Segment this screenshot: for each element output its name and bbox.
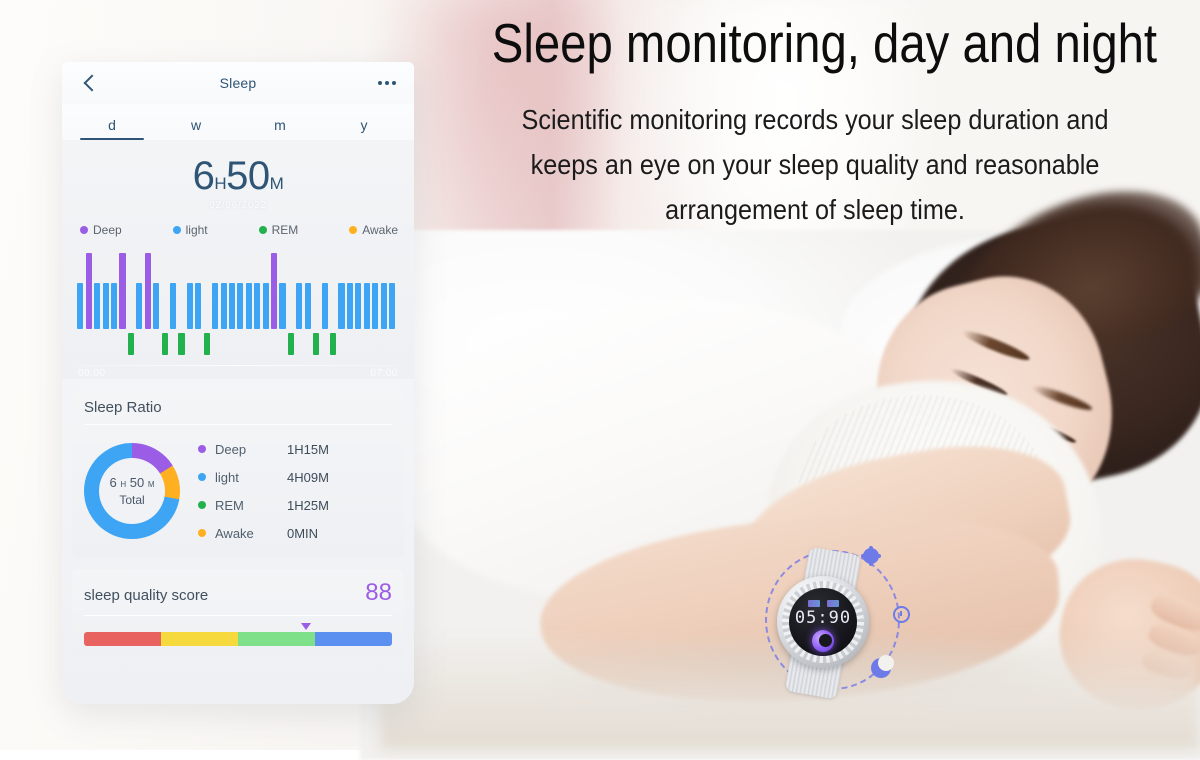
chart-bar-light	[246, 283, 252, 329]
sleep-ratio-legend: Deep 1H15M light 4H09M REM 1H25M Awake 0…	[188, 435, 392, 547]
total-hours: 6	[193, 154, 215, 198]
page-title: Sleep monitoring, day and night	[492, 14, 1128, 72]
phone-app-panel: Sleep d w m y 6H50M 02/06/2022 Deep ligh…	[62, 62, 414, 704]
sleep-date: 02/06/2022	[62, 200, 414, 211]
sleep-quality-bar	[84, 632, 392, 646]
chart-bar-light	[322, 283, 328, 329]
chart-bar-deep	[145, 253, 151, 329]
sleep-quality-bar-wrap	[84, 632, 392, 646]
ratio-label-awake: Awake	[215, 526, 287, 541]
sleep-quality-section: sleep quality score 88	[72, 569, 404, 658]
chart-bar-light	[221, 283, 227, 329]
ratio-value-light: 4H09M	[287, 470, 329, 485]
chart-bar-light	[111, 283, 117, 329]
page-subtitle: Scientific monitoring records your sleep…	[487, 98, 1144, 232]
legend-label-rem: REM	[272, 223, 299, 237]
light-color-dot-icon	[173, 226, 181, 234]
chart-legend: Deep light REM Awake	[62, 217, 414, 245]
score-segment-poor	[84, 632, 161, 646]
donut-center-label: 6 H 50 M Total	[84, 443, 180, 539]
axis-start-label: 00:00	[78, 368, 106, 379]
ratio-value-rem: 1H25M	[287, 498, 329, 513]
chart-bar-rem	[178, 333, 184, 355]
donut-hours-unit: H	[120, 480, 126, 489]
sleep-quality-score: 88	[365, 579, 392, 607]
ratio-value-awake: 0MIN	[287, 526, 318, 541]
watch-time-display: 05:90	[789, 608, 857, 628]
tab-year[interactable]: y	[322, 117, 406, 140]
legend-item-rem: REM	[259, 223, 299, 237]
total-minutes-unit: M	[270, 174, 284, 193]
tab-month[interactable]: m	[238, 117, 322, 140]
app-title: Sleep	[220, 75, 257, 91]
sleep-ratio-donut-chart: 6 H 50 M Total	[84, 443, 180, 539]
ratio-label-deep: Deep	[215, 442, 287, 457]
chart-bar-light	[77, 283, 83, 329]
app-navbar: Sleep	[62, 62, 414, 104]
legend-item-light: light	[173, 223, 208, 237]
donut-minutes-unit: M	[148, 480, 155, 489]
chart-bar-light	[229, 283, 235, 329]
sleep-total-duration: 6H50M	[62, 156, 414, 196]
moon-icon	[871, 658, 891, 678]
chart-axis-line	[76, 365, 400, 366]
chart-bar-light	[170, 283, 176, 329]
chart-bars	[76, 245, 400, 363]
chart-bar-light	[355, 283, 361, 329]
tab-week[interactable]: w	[154, 117, 238, 140]
chart-bar-light	[103, 283, 109, 329]
ratio-row-deep: Deep 1H15M	[198, 435, 392, 463]
total-hours-unit: H	[214, 174, 226, 193]
chart-bar-light	[381, 283, 387, 329]
donut-duration: 6 H 50 M	[109, 474, 154, 492]
sleep-quality-header: sleep quality score 88	[84, 579, 392, 616]
chart-bar-light	[347, 283, 353, 329]
chart-bar-rem	[128, 333, 134, 355]
chart-bar-light	[305, 283, 311, 329]
rem-color-dot-icon	[259, 226, 267, 234]
watch-widgets	[789, 600, 857, 607]
legend-item-deep: Deep	[80, 223, 122, 237]
clock-icon	[893, 606, 910, 623]
awake-color-dot-icon	[198, 529, 206, 537]
score-segment-excellent	[315, 632, 392, 646]
back-chevron-icon[interactable]	[80, 73, 100, 93]
legend-label-awake: Awake	[362, 223, 398, 237]
sun-icon	[863, 548, 879, 564]
watch-case[interactable]: 05:90	[777, 576, 869, 668]
chart-bar-light	[364, 283, 370, 329]
axis-end-label: 07:00	[370, 368, 398, 379]
chart-bar-light	[153, 283, 159, 329]
chart-bar-rem	[313, 333, 319, 355]
legend-item-awake: Awake	[349, 223, 398, 237]
chart-bar-light	[254, 283, 260, 329]
donut-total-caption: Total	[119, 492, 144, 508]
chart-bar-light	[279, 283, 285, 329]
deep-color-dot-icon	[198, 445, 206, 453]
rem-color-dot-icon	[198, 501, 206, 509]
tab-day[interactable]: d	[70, 117, 154, 140]
ratio-row-light: light 4H09M	[198, 463, 392, 491]
chart-bar-light	[94, 283, 100, 329]
chart-bar-light	[263, 283, 269, 329]
chart-bar-light	[237, 283, 243, 329]
sleep-total-block: 6H50M 02/06/2022	[62, 140, 414, 217]
ratio-label-light: light	[215, 470, 287, 485]
ratio-row-rem: REM 1H25M	[198, 491, 392, 519]
legend-label-light: light	[186, 223, 208, 237]
watch-moon-icon	[812, 630, 834, 652]
chart-bar-rem	[204, 333, 210, 355]
chart-bar-light	[372, 283, 378, 329]
chart-bar-light	[338, 283, 344, 329]
chart-bar-rem	[162, 333, 168, 355]
sleep-ratio-section: Sleep Ratio 6 H 50 M Total Deep 1H15	[72, 389, 404, 559]
score-segment-good	[238, 632, 315, 646]
sleep-ratio-body: 6 H 50 M Total Deep 1H15M light	[84, 425, 392, 547]
chart-axis-labels: 00:00 07:00	[78, 368, 398, 379]
sleep-quality-title: sleep quality score	[84, 587, 208, 604]
chart-bar-deep	[271, 253, 277, 329]
score-segment-fair	[161, 632, 238, 646]
chart-bar-light	[195, 283, 201, 329]
chart-bar-light	[212, 283, 218, 329]
period-tabs: d w m y	[62, 104, 414, 140]
donut-hours: 6	[109, 475, 116, 490]
watch-screen: 05:90	[789, 588, 857, 656]
sleep-overview-card: 6H50M 02/06/2022 Deep light REM Awake	[62, 140, 414, 379]
chart-bar-light	[389, 283, 395, 329]
sleep-stage-chart[interactable]	[76, 245, 400, 363]
chart-bar-light	[187, 283, 193, 329]
total-minutes: 50	[226, 154, 270, 198]
chart-bar-rem	[288, 333, 294, 355]
awake-color-dot-icon	[349, 226, 357, 234]
smartwatch-illustration: 05:90	[745, 548, 920, 698]
ratio-value-deep: 1H15M	[287, 442, 329, 457]
chart-bar-deep	[119, 253, 125, 329]
light-color-dot-icon	[198, 473, 206, 481]
ratio-row-awake: Awake 0MIN	[198, 519, 392, 547]
score-marker-icon	[301, 623, 311, 630]
legend-label-deep: Deep	[93, 223, 122, 237]
sleep-ratio-title: Sleep Ratio	[84, 399, 392, 425]
chart-bar-rem	[330, 333, 336, 355]
donut-minutes: 50	[130, 475, 144, 490]
chart-bar-light	[136, 283, 142, 329]
chart-bar-light	[296, 283, 302, 329]
more-dots-icon[interactable]	[378, 81, 396, 85]
ratio-label-rem: REM	[215, 498, 287, 513]
chart-bar-deep	[86, 253, 92, 329]
deep-color-dot-icon	[80, 226, 88, 234]
